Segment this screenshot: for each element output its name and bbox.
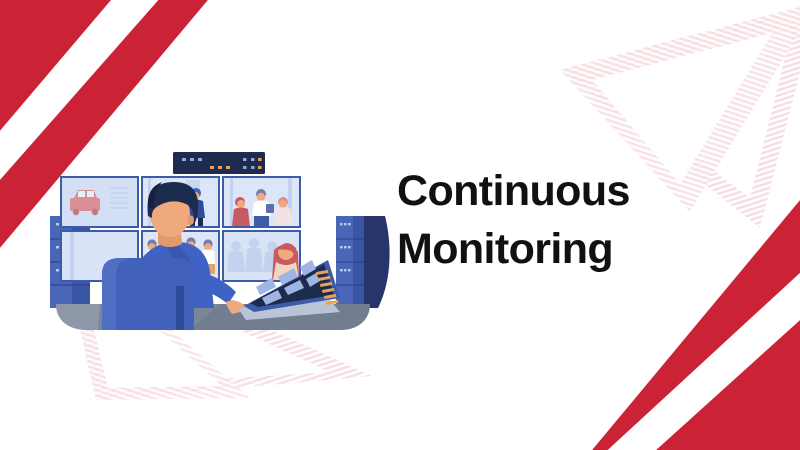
monitor-cam-1 bbox=[60, 176, 139, 228]
monitor-cam-3 bbox=[222, 176, 301, 228]
slide-canvas: Continuous Monitoring bbox=[0, 0, 800, 450]
title-block: Continuous Monitoring bbox=[397, 162, 757, 278]
network-recorder-device bbox=[173, 152, 265, 174]
page-title-line-2: Monitoring bbox=[397, 220, 757, 278]
control-room-illustration bbox=[40, 140, 410, 355]
server-rack-right bbox=[336, 216, 390, 308]
page-title-line-1: Continuous bbox=[397, 162, 757, 220]
